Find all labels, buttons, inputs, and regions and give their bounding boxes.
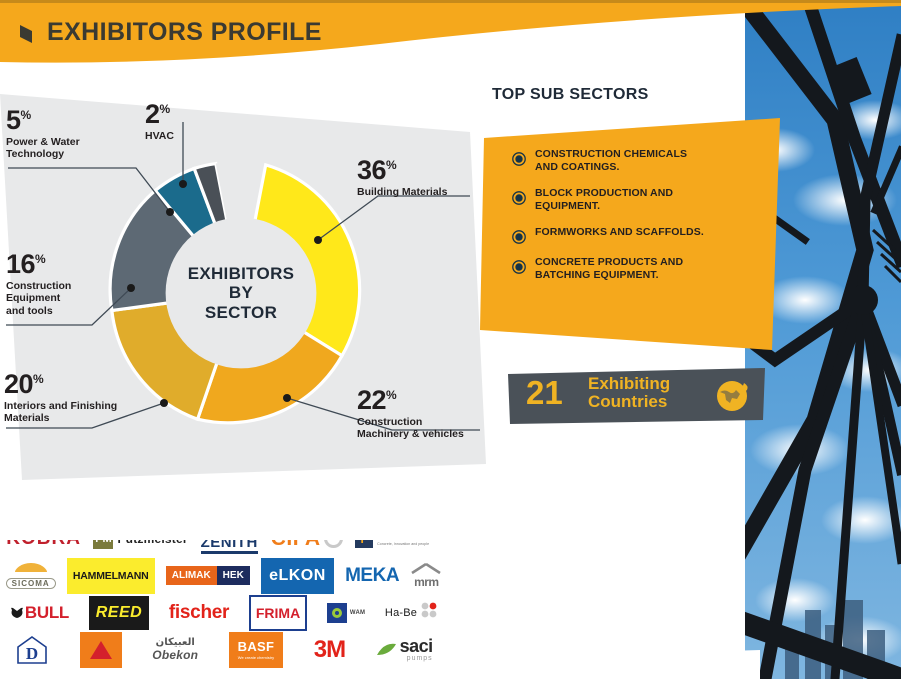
brand-label: HAMMELMANN xyxy=(73,570,149,582)
sub-sector-label: CONCRETE PRODUCTS ANDBATCHING EQUIPMENT. xyxy=(535,256,683,283)
brand-logo-basf[interactable]: BASF We create chemistry xyxy=(229,632,284,668)
brand-logo-obekon[interactable]: العبيكان Obekon xyxy=(152,635,198,665)
cifa-ring-icon xyxy=(324,529,343,548)
brand-label: CIFA xyxy=(271,527,321,551)
brand-label: 3M xyxy=(314,636,345,664)
brand-logo-reed[interactable]: REED xyxy=(89,596,149,630)
brand-logo-frima[interactable]: FRIMA xyxy=(249,595,307,631)
callout-percent: 2% xyxy=(145,102,174,127)
brand-label: Putzmeister xyxy=(117,532,187,546)
brand-label: eLKON xyxy=(269,567,326,585)
brand-label: ZENITH xyxy=(201,534,258,554)
sub-sector-label: BLOCK PRODUCTION ANDEQUIPMENT. xyxy=(535,187,673,214)
callout-percent: 22% xyxy=(357,388,464,413)
globe-icon xyxy=(714,378,750,414)
countries-label: ExhibitingCountries xyxy=(588,375,670,412)
brand-label: MEKA xyxy=(345,565,399,587)
top-brands-title: TOP BRANDS xyxy=(320,500,428,518)
callout-hvac: 2% HVAC xyxy=(145,102,174,142)
brand-label: REED xyxy=(96,604,142,622)
callout-label: Building Materials xyxy=(357,186,447,198)
page-title: EXHIBITORS PROFILE xyxy=(47,18,322,47)
saci-leaf-icon xyxy=(376,641,398,659)
putzmeister-mark-icon: PM xyxy=(93,529,113,549)
sub-sector-label: FORMWORKS AND SCAFFOLDS. xyxy=(535,226,704,239)
brand-label: saci xyxy=(400,637,433,655)
callout-percent: 16% xyxy=(6,252,71,277)
mrm-roof-icon xyxy=(410,563,442,575)
exhibitors-by-sector-donut xyxy=(96,148,386,438)
callout-interiors-finishing: 20% Interiors and Finishing Materials xyxy=(4,372,117,425)
brand-sublabel: We create chemistry xyxy=(238,655,274,660)
countries-count: 21 xyxy=(526,376,563,409)
brand-label: BASF xyxy=(238,639,275,654)
bullet-icon xyxy=(512,191,526,205)
brand-label-2: العبيكان xyxy=(156,637,195,648)
sub-sector-item[interactable]: FORMWORKS AND SCAFFOLDS. xyxy=(512,226,762,244)
wam-mark-icon xyxy=(327,603,347,623)
brand-label: mrm xyxy=(414,575,439,589)
callout-percent: 36% xyxy=(357,158,447,183)
brand-label: WAM xyxy=(350,610,365,616)
brand-logo-elkon[interactable]: eLKON xyxy=(261,558,334,594)
callout-construction-equipment: 16% Construction Equipment and tools xyxy=(6,252,71,317)
d-house-icon: D xyxy=(15,635,49,665)
callout-label: Interiors and Finishing Materials xyxy=(4,400,117,425)
sika-triangle-icon xyxy=(88,639,114,661)
frumecar-mark-icon: F xyxy=(355,530,373,548)
callout-label: Construction Machinery & vehicles xyxy=(357,416,464,441)
brand-logo-hammelmann[interactable]: HAMMELMANN xyxy=(67,558,155,594)
callout-percent: 20% xyxy=(4,372,117,397)
top-sub-sectors-title: TOP SUB SECTORS xyxy=(492,86,649,104)
brand-logo-wam[interactable]: WAM xyxy=(327,598,365,628)
sicoma-mark-icon xyxy=(14,563,48,576)
bullet-icon xyxy=(512,152,526,166)
brand-logo-sicoma[interactable]: SICOMA xyxy=(6,561,56,591)
bullet-icon xyxy=(512,260,526,274)
brand-logo-kobra[interactable]: KOBRA xyxy=(6,524,81,554)
callout-building-materials: 36% Building Materials xyxy=(357,158,447,198)
callout-label: Power & Water Technology xyxy=(6,136,80,161)
callout-construction-machinery: 22% Construction Machinery & vehicles xyxy=(357,388,464,441)
callout-label: HVAC xyxy=(145,130,174,142)
brand-label: KOBRA xyxy=(6,528,81,550)
sub-sector-item[interactable]: BLOCK PRODUCTION ANDEQUIPMENT. xyxy=(512,187,762,214)
brand-label: FRUMECAR xyxy=(377,530,442,541)
brand-logo-bull[interactable]: BULL xyxy=(10,598,69,628)
brand-label: ALIMAK xyxy=(166,566,217,585)
infographic-page: EXHIBITORS PROFILE xyxy=(0,0,901,679)
brand-logo-meka[interactable]: MEKA xyxy=(345,561,399,591)
brand-logo-sika[interactable] xyxy=(80,632,122,668)
brand-logo-d[interactable]: D xyxy=(15,635,49,665)
brand-logo-zenith[interactable]: ZENITH xyxy=(200,524,258,554)
callout-power-water: 5% Power & Water Technology xyxy=(6,108,80,161)
brand-label: fischer xyxy=(169,602,229,624)
brand-label-2: HEK xyxy=(217,566,250,585)
brand-row: KOBRA PM Putzmeister ZENITH CIFA F FRUME… xyxy=(0,520,448,557)
brand-row: D العبيكان Obekon BASF We create chemist… xyxy=(0,631,448,668)
brand-logo-frumecar[interactable]: F FRUMECAR Concrete, Innovation and peop… xyxy=(355,524,442,554)
brand-label: BULL xyxy=(25,603,69,623)
brand-sublabel: pumps xyxy=(400,655,433,662)
brand-label: Obekon xyxy=(152,648,198,662)
bullet-icon xyxy=(512,230,526,244)
brand-logo-putzmeister[interactable]: PM Putzmeister xyxy=(93,524,187,554)
triangle-right-icon xyxy=(18,24,36,44)
sub-sector-label: CONSTRUCTION CHEMICALSAND COATINGS. xyxy=(535,148,687,175)
brand-logo-fischer[interactable]: fischer xyxy=(169,598,229,628)
sub-sector-item[interactable]: CONCRETE PRODUCTS ANDBATCHING EQUIPMENT. xyxy=(512,256,762,283)
brand-label: SICOMA xyxy=(6,578,56,589)
bottom-corner-wedge xyxy=(430,648,760,679)
brand-logo-habe[interactable]: Ha-Be xyxy=(385,598,438,628)
zenith-roof-icon xyxy=(200,524,258,534)
brand-logo-saci-pumps[interactable]: saci pumps xyxy=(376,635,433,665)
brand-logo-cifa[interactable]: CIFA xyxy=(271,524,343,554)
brand-logo-mrm[interactable]: mrm xyxy=(410,561,442,591)
habe-dots-icon xyxy=(420,601,438,624)
brand-label: Ha-Be xyxy=(385,607,417,619)
bull-head-icon xyxy=(10,606,25,620)
svg-text:D: D xyxy=(26,644,38,663)
brand-sublabel: Concrete, Innovation and people xyxy=(377,543,442,547)
brand-logo-grid: KOBRA PM Putzmeister ZENITH CIFA F FRUME… xyxy=(0,520,448,668)
callout-label: Construction Equipment and tools xyxy=(6,280,71,317)
top-sub-sectors-list: CONSTRUCTION CHEMICALSAND COATINGS. BLOC… xyxy=(512,148,762,295)
brand-row: BULL REED fischer FRIMA WAM Ha-Be xyxy=(0,594,448,631)
brand-logo-alimak-hek[interactable]: ALIMAK HEK xyxy=(166,561,250,591)
brand-row: SICOMA HAMMELMANN ALIMAK HEK eLKON MEKA … xyxy=(0,557,448,594)
brand-label: FRIMA xyxy=(256,605,300,621)
callout-percent: 5% xyxy=(6,108,80,133)
brand-logo-3m[interactable]: 3M xyxy=(314,635,345,665)
sub-sector-item[interactable]: CONSTRUCTION CHEMICALSAND COATINGS. xyxy=(512,148,762,175)
